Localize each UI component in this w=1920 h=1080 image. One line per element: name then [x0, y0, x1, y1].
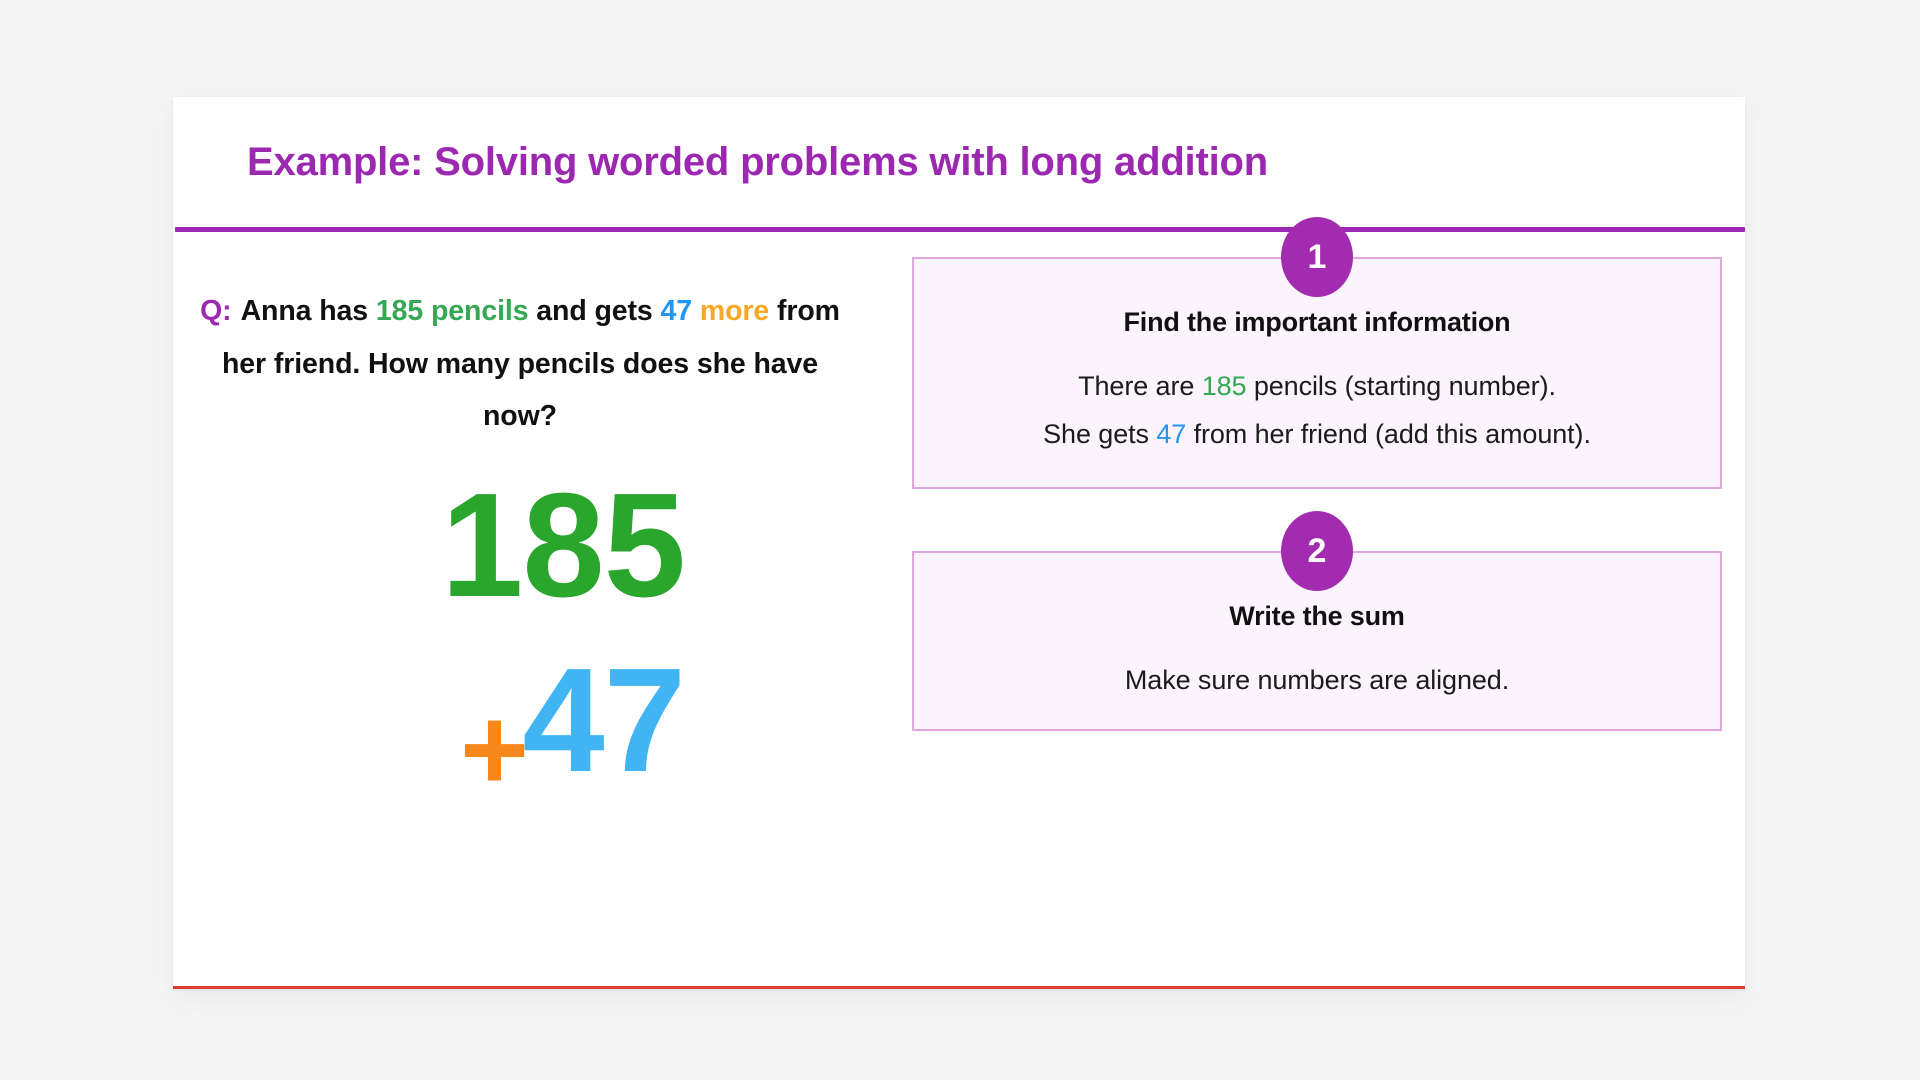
- question-part-2: and gets: [528, 295, 660, 327]
- step-1-line-2: She gets 47 from her friend (add this am…: [942, 410, 1692, 458]
- question-column: Q:Anna has 185 pencils and gets 47 more …: [175, 257, 865, 957]
- question-number-185: 185 pencils: [376, 295, 529, 327]
- sum-addend-47: 47: [522, 647, 685, 795]
- question-text: Q:Anna has 185 pencils and gets 47 more …: [199, 285, 841, 443]
- title-divider: [175, 227, 1745, 232]
- step-1-line-1: There are 185 pencils (starting number).: [942, 362, 1692, 410]
- question-number-47: 47: [660, 295, 692, 327]
- step-1-line-1-post: pencils (starting number).: [1246, 371, 1555, 401]
- question-word-more: more: [700, 295, 769, 327]
- step-2-title: Write the sum: [942, 601, 1692, 632]
- step-1-line-2-value: 47: [1156, 419, 1186, 449]
- step-2: 2 Write the sum Make sure numbers are al…: [912, 551, 1722, 731]
- step-1: 1 Find the important information There a…: [912, 257, 1722, 489]
- step-2-line-1: Make sure numbers are aligned.: [942, 656, 1692, 704]
- slide-card: Example: Solving worded problems with lo…: [173, 97, 1745, 989]
- step-1-line-2-pre: She gets: [1043, 419, 1156, 449]
- plus-icon: +: [460, 691, 529, 809]
- sum-addend-185: 185: [441, 472, 685, 620]
- sum-row-addend2: + 47: [175, 647, 865, 822]
- step-1-line-2-post: from her friend (add this amount).: [1186, 419, 1591, 449]
- steps-column: 1 Find the important information There a…: [912, 257, 1722, 793]
- question-part-1: Anna has: [241, 295, 376, 327]
- step-1-badge: 1: [1281, 217, 1353, 297]
- step-1-line-1-value: 185: [1202, 371, 1247, 401]
- step-2-badge: 2: [1281, 511, 1353, 591]
- sum-row-addend1: 185: [175, 472, 865, 647]
- step-1-title: Find the important information: [942, 307, 1692, 338]
- question-label: Q:: [200, 295, 231, 327]
- step-1-line-1-pre: There are: [1078, 371, 1202, 401]
- slide-bottom-rule: [173, 986, 1745, 989]
- long-addition-sum: 185 + 47: [175, 472, 865, 822]
- page-title: Example: Solving worded problems with lo…: [247, 140, 1268, 185]
